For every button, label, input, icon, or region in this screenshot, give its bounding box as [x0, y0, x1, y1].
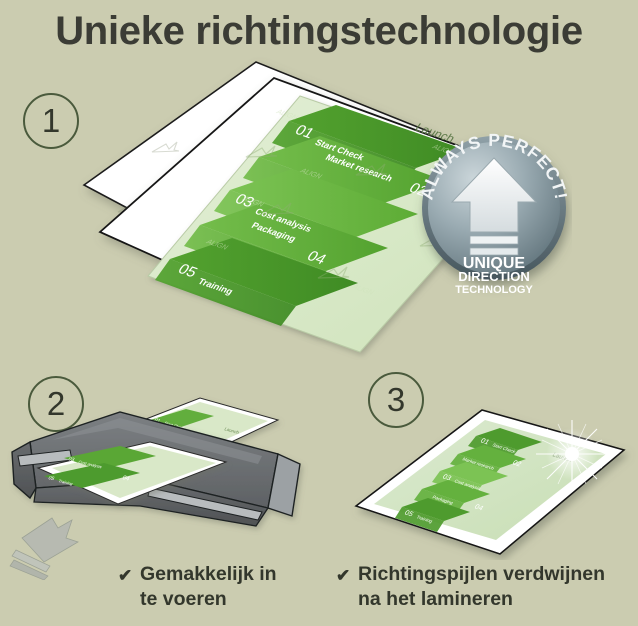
- check-icon-left: ✔: [118, 563, 132, 588]
- caption-right-line1: Richtingspijlen verdwijnen: [358, 563, 605, 585]
- poster-canvas: Unieke richtingstechnologie: [0, 0, 638, 626]
- caption-left: ✔ Gemakkelijk in te voeren: [140, 562, 330, 612]
- caption-left-line2: te voeren: [140, 588, 227, 610]
- up-arrow-stack-icon: [10, 518, 78, 580]
- step3-illustration: 01 Start Check 02 Market research 03 Cos…: [340, 380, 638, 560]
- step-badge-1: 1: [23, 93, 79, 149]
- always-perfect-badge: ALWAYS PERFECT! UNIQUE DIRECTION TECHNOL…: [412, 120, 572, 300]
- caption-right: ✔ Richtingspijlen verdwijnen na het lami…: [358, 562, 628, 612]
- step-number-1: 1: [42, 102, 60, 140]
- step2-illustration: 01 Start Check Launch 03 Cost analysis 0: [0, 380, 330, 580]
- check-icon-right: ✔: [336, 563, 350, 588]
- caption-right-line2: na het lamineren: [358, 588, 513, 610]
- badge-line-3: TECHNOLOGY: [455, 284, 533, 296]
- caption-left-line1: Gemakkelijk in: [140, 563, 277, 585]
- badge-line-2: DIRECTION: [458, 269, 530, 284]
